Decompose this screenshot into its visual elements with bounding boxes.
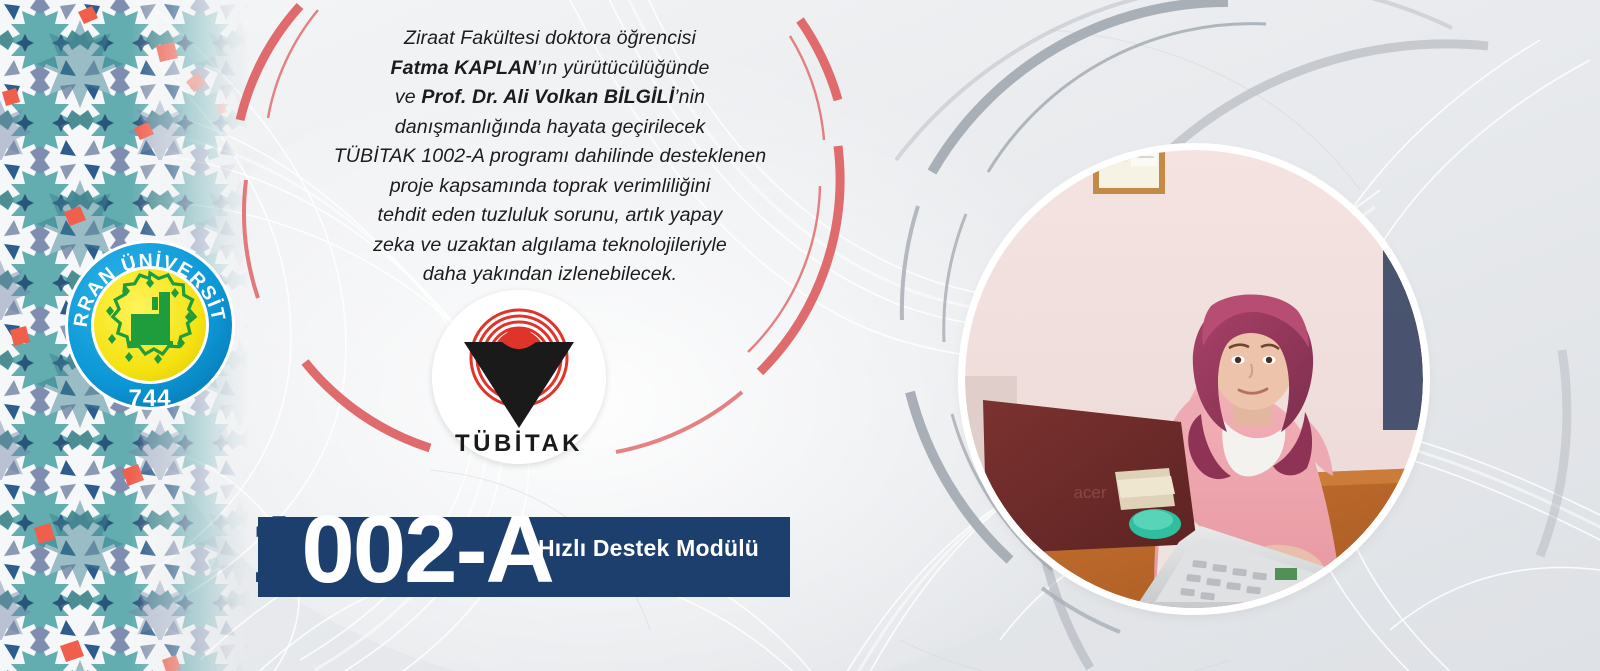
tubitak-logo: TÜBİTAK <box>432 290 606 464</box>
poster-canvas: Ziraat Fakültesi doktora öğrencisi Fatma… <box>0 0 1600 671</box>
announcement-text: Ziraat Fakültesi doktora öğrencisi Fatma… <box>300 24 800 290</box>
program-code: 1002-A <box>250 500 553 600</box>
harran-bottom-text: 744 <box>128 385 171 412</box>
text-line: proje kapsamında toprak verimliliğini <box>300 172 800 202</box>
tubitak-wordmark: TÜBİTAK <box>455 430 583 457</box>
wall-frame <box>1093 150 1165 194</box>
program-code-rest: 002-A <box>301 496 552 603</box>
harran-universitesi-logo: HARRAN ÜNİVERSİTESİ 744 <box>63 238 237 412</box>
text-line: Ziraat Fakültesi doktora öğrencisi <box>300 24 800 54</box>
laptop-brand: acer <box>1073 483 1106 502</box>
paper-stack <box>1115 468 1175 510</box>
text-line: tehdit eden tuzluluk sorunu, artık yapay <box>300 201 800 231</box>
advisor-name: Prof. Dr. Ali Volkan BİLGİLİ <box>421 86 674 108</box>
program-subtitle: Hızlı Destek Modülü <box>538 535 759 562</box>
photo-clip: acer <box>965 150 1423 608</box>
text-line: zeka ve uzaktan algılama teknolojileriyl… <box>300 231 800 261</box>
program-code-first-digit: 1 <box>250 496 301 603</box>
text-line: daha yakından izlenebilecek. <box>300 260 800 290</box>
researcher-photo: acer <box>965 150 1423 608</box>
text-line: Fatma KAPLAN’ın yürütücülüğünde <box>300 54 800 84</box>
text-line: ve Prof. Dr. Ali Volkan BİLGİLİ’nin <box>300 83 800 113</box>
text-line: danışmanlığında hayata geçirilecek <box>300 113 800 143</box>
researcher-name: Fatma KAPLAN <box>391 57 537 79</box>
text-line: TÜBİTAK 1002-A programı dahilinde destek… <box>300 142 800 172</box>
